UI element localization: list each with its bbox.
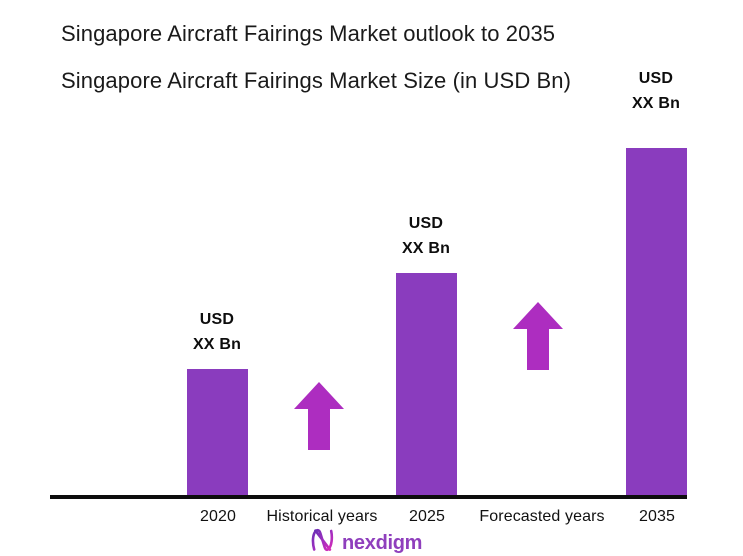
- bar-value-currency-2035: USD: [601, 66, 711, 91]
- bar-value-currency-2025: USD: [371, 211, 481, 236]
- bar-2035[interactable]: [626, 148, 687, 495]
- bar-value-amount-2025: XX Bn: [371, 236, 481, 261]
- brand-name: nexdigm: [342, 533, 422, 553]
- x-axis-line: [50, 495, 687, 499]
- bar-2020[interactable]: [187, 369, 248, 495]
- chart-canvas: Singapore Aircraft Fairings Market outlo…: [0, 0, 743, 556]
- plot-area: USD XX Bn USD XX Bn USD XX Bn 2020 Histo…: [0, 0, 743, 556]
- bar-value-label-2020: USD XX Bn: [162, 307, 272, 357]
- brand-logo: nexdigm: [311, 528, 422, 556]
- bar-value-amount-2035: XX Bn: [601, 91, 711, 116]
- bar-value-currency-2020: USD: [162, 307, 272, 332]
- x-axis-label-forecasted-years: Forecasted years: [458, 508, 626, 526]
- nexdigm-n-logo-icon: [311, 528, 337, 556]
- x-axis-label-2035: 2035: [602, 508, 712, 526]
- bar-2025[interactable]: [396, 273, 457, 495]
- bar-value-label-2035: USD XX Bn: [601, 66, 711, 116]
- bar-value-label-2025: USD XX Bn: [371, 211, 481, 261]
- growth-arrow-forecast-icon: [513, 302, 563, 375]
- growth-arrow-historical-icon: [294, 382, 344, 455]
- bar-value-amount-2020: XX Bn: [162, 332, 272, 357]
